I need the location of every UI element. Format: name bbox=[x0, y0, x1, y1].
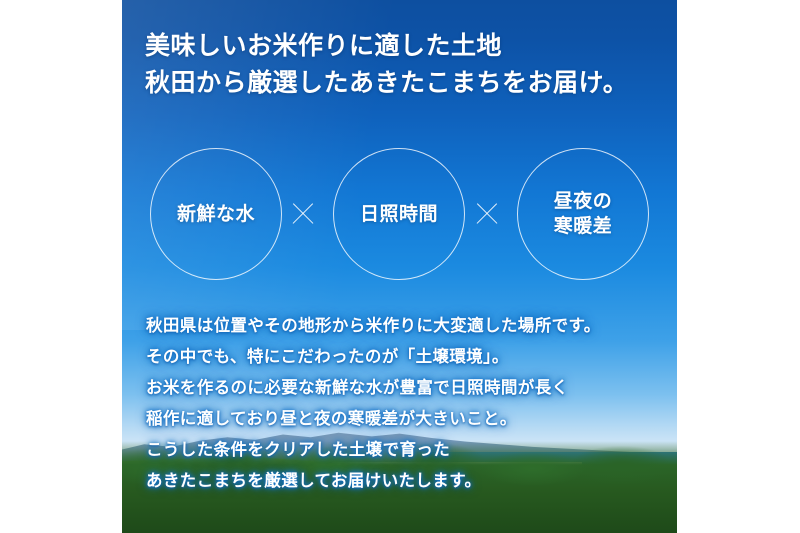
feature-circle-label: 新鮮な水 bbox=[177, 202, 255, 227]
feature-circles-row: 新鮮な水 日照時間 昼夜の 寒暖差 bbox=[122, 148, 677, 284]
headline-line-1: 美味しいお米作りに適した土地 bbox=[145, 28, 665, 65]
feature-circle-label: 昼夜の 寒暖差 bbox=[554, 189, 613, 239]
feature-circle-sunshine-hours: 日照時間 bbox=[333, 148, 465, 280]
feature-circle-day-night-temp-gap: 昼夜の 寒暖差 bbox=[517, 148, 649, 280]
body-line-6: あきたこまちを厳選してお届けいたします。 bbox=[146, 466, 666, 497]
feature-circle-fresh-water: 新鮮な水 bbox=[150, 148, 282, 280]
promo-banner: 美味しいお米作りに適した土地 秋田から厳選したあきたこまちをお届け。 新鮮な水 … bbox=[122, 0, 677, 533]
multiply-icon bbox=[289, 200, 317, 228]
banner-headline: 美味しいお米作りに適した土地 秋田から厳選したあきたこまちをお届け。 bbox=[145, 28, 665, 102]
body-line-4: 稲作に適しており昼と夜の寒暖差が大きいこと。 bbox=[146, 404, 666, 435]
body-line-1: 秋田県は位置やその地形から米作りに大変適した場所です。 bbox=[146, 311, 666, 342]
screenshot-canvas: 美味しいお米作りに適した土地 秋田から厳選したあきたこまちをお届け。 新鮮な水 … bbox=[0, 0, 800, 533]
banner-body-copy: 秋田県は位置やその地形から米作りに大変適した場所です。 その中でも、特にこだわっ… bbox=[146, 311, 666, 497]
multiply-icon bbox=[473, 200, 501, 228]
body-line-5: こうした条件をクリアした土壌で育った bbox=[146, 435, 666, 466]
feature-circle-label: 日照時間 bbox=[360, 202, 438, 227]
body-line-2: その中でも、特にこだわったのが「土壌環境」。 bbox=[146, 342, 666, 373]
headline-line-2: 秋田から厳選したあきたこまちをお届け。 bbox=[145, 65, 665, 102]
body-line-3: お米を作るのに必要な新鮮な水が豊富で日照時間が長く bbox=[146, 373, 666, 404]
